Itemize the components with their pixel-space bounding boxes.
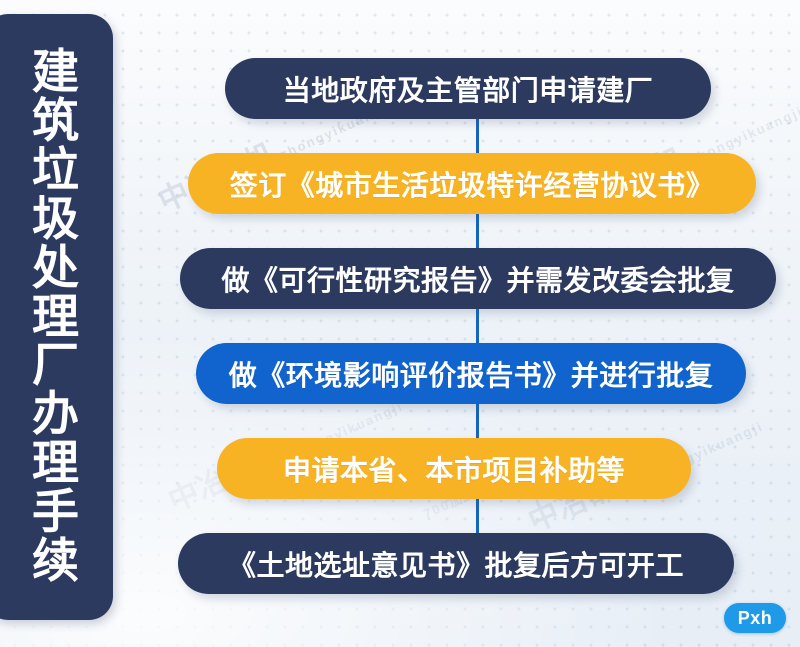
infographic-canvas: 中冶矿机 zhongyikuangji 中冶矿机 zhongyikuangji … xyxy=(0,0,800,647)
flow-step-5[interactable]: 申请本省、本市项目补助等 xyxy=(217,438,691,499)
flow-step-3[interactable]: 做《可行性研究报告》并需发改委会批复 xyxy=(180,248,776,309)
flow-step-label: 《土地选址意见书》批复后方可开工 xyxy=(228,544,684,584)
flow-step-label: 做《环境影响评价报告书》并进行批复 xyxy=(229,354,714,394)
vertical-title-panel: 建筑垃圾处理厂办理手续 xyxy=(0,14,113,620)
flow-step-label: 当地政府及主管部门申请建厂 xyxy=(283,69,654,109)
flow-step-6[interactable]: 《土地选址意见书》批复后方可开工 xyxy=(178,533,734,594)
flow-step-4[interactable]: 做《环境影响评价报告书》并进行批复 xyxy=(196,343,746,404)
pxh-badge-label: Pxh xyxy=(738,608,773,629)
flow-step-label: 签订《城市生活垃圾特许经营协议书》 xyxy=(230,164,715,204)
flow-step-label: 申请本省、本市项目补助等 xyxy=(283,449,625,489)
page-title: 建筑垃圾处理厂办理手续 xyxy=(12,48,86,586)
flow-step-1[interactable]: 当地政府及主管部门申请建厂 xyxy=(225,58,711,119)
flow-step-2[interactable]: 签订《城市生活垃圾特许经营协议书》 xyxy=(188,153,756,214)
pxh-badge[interactable]: Pxh xyxy=(724,603,786,633)
flow-step-label: 做《可行性研究报告》并需发改委会批复 xyxy=(221,259,734,299)
